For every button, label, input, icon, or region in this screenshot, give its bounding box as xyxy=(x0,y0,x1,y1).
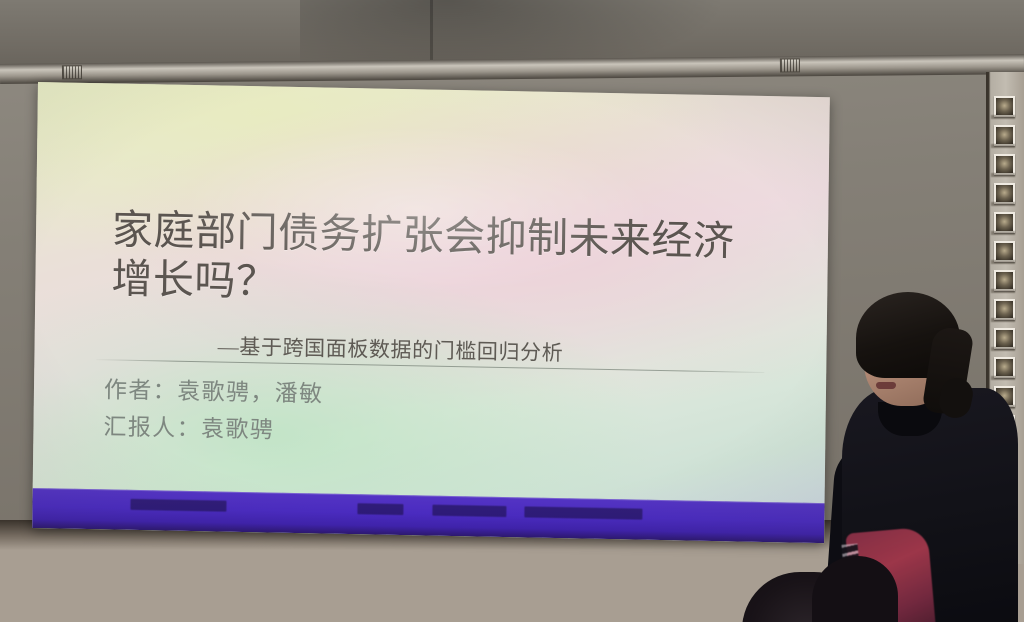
wall-plaque-caption xyxy=(991,260,1015,264)
wall-plaque-caption xyxy=(991,231,1015,235)
wall-plaque xyxy=(994,154,1015,175)
rail-bracket-right xyxy=(780,58,800,72)
wall-plaque-caption xyxy=(991,115,1015,119)
slide-surface: 家庭部门债务扩张会抑制未来经济增长吗？ —基于跨国面板数据的门槛回归分析 作者：… xyxy=(32,82,830,543)
wall-plaque-caption xyxy=(991,202,1015,206)
wall-plaque xyxy=(994,96,1015,117)
rail-bracket-left xyxy=(62,65,82,79)
wall-plaque-image xyxy=(996,98,1013,115)
wall-plaque-image xyxy=(996,127,1013,144)
wall-plaque-image xyxy=(996,185,1013,202)
footer-mark xyxy=(432,505,506,517)
footer-mark xyxy=(130,499,226,512)
slide-credits: 作者：袁歌骋，潘敏 汇报人：袁歌骋 xyxy=(103,371,324,450)
wall-plaque-image xyxy=(996,156,1013,173)
wall-plaque-image xyxy=(996,272,1013,289)
footer-text-marks xyxy=(32,497,824,525)
wall-plaque-image xyxy=(996,214,1013,231)
slide-title: 家庭部门债务扩张会抑制未来经济增长吗？ xyxy=(111,205,772,316)
wall-plaque-image xyxy=(996,243,1013,260)
wall-plaque xyxy=(994,270,1015,291)
wall-plaque xyxy=(994,241,1015,262)
presenter-line: 汇报人：袁歌骋 xyxy=(103,409,323,450)
footer-mark xyxy=(357,503,403,515)
projection-screen: 家庭部门债务扩张会抑制未来经济增长吗？ —基于跨国面板数据的门槛回归分析 作者：… xyxy=(32,82,830,543)
footer-mark xyxy=(524,506,642,519)
wall-plaque xyxy=(994,212,1015,233)
lecture-hall-photo: 家庭部门债务扩张会抑制未来经济增长吗？ —基于跨国面板数据的门槛回归分析 作者：… xyxy=(0,0,1024,622)
presenter-mouth xyxy=(876,382,896,389)
author-line: 作者：袁歌骋，潘敏 xyxy=(104,371,324,412)
wall-plaque-caption xyxy=(991,173,1015,177)
wall-plaque xyxy=(994,183,1015,204)
wall-plaque xyxy=(994,125,1015,146)
wall-plaque-caption xyxy=(991,144,1015,148)
